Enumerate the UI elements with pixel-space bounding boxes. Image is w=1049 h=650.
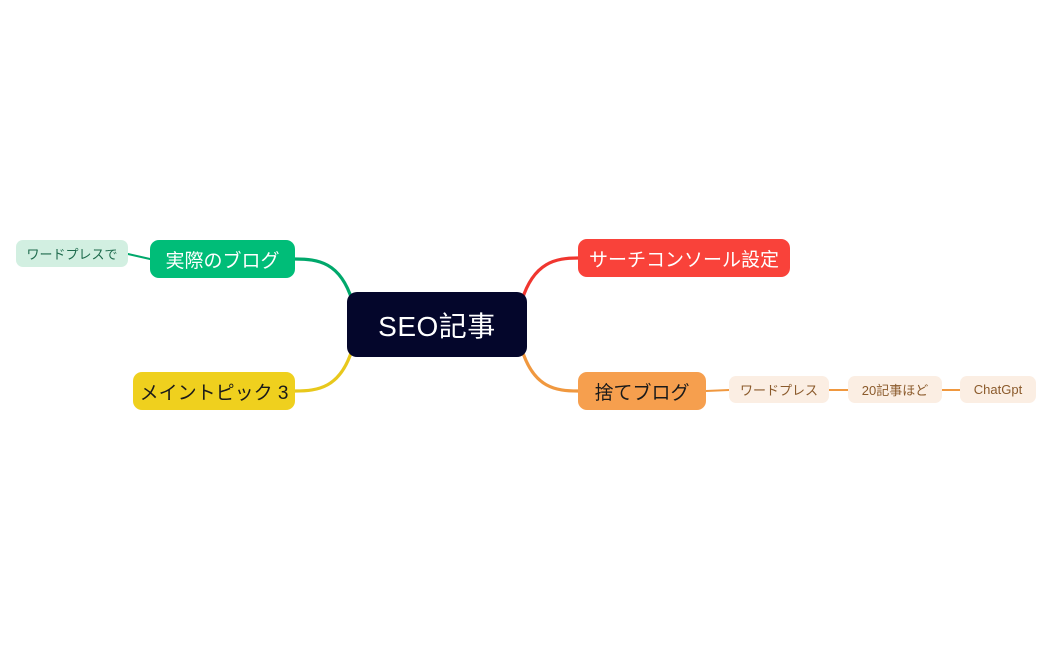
branch-node-actual-blog[interactable]: 実際のブログ (150, 240, 295, 278)
leaf-node-wordpress[interactable]: ワードプレス (729, 376, 829, 403)
branch-node-main-topic-3[interactable]: メイントピック 3 (133, 372, 295, 410)
edge-root-to-throwaway-blog (522, 350, 578, 391)
branch-node-search-console[interactable]: サーチコンソール設定 (578, 239, 790, 277)
edge-throwaway-blog-to-wordpress (706, 390, 729, 391)
mindmap-canvas: SEO記事 実際のブログ ワードプレスで サーチコンソール設定 メイントピック … (0, 0, 1049, 650)
edge-root-to-main-topic-3 (295, 350, 352, 391)
root-node-seo-article[interactable]: SEO記事 (347, 292, 527, 357)
branch-node-throwaway-blog[interactable]: 捨てブログ (578, 372, 706, 410)
edge-actual-blog-to-wordpress-de (128, 254, 150, 259)
leaf-node-chatgpt[interactable]: ChatGpt (960, 376, 1036, 403)
leaf-node-wordpress-de[interactable]: ワードプレスで (16, 240, 128, 267)
leaf-node-twenty-articles[interactable]: 20記事ほど (848, 376, 942, 403)
edge-root-to-search-console (522, 258, 578, 300)
edge-root-to-actual-blog (295, 259, 352, 300)
